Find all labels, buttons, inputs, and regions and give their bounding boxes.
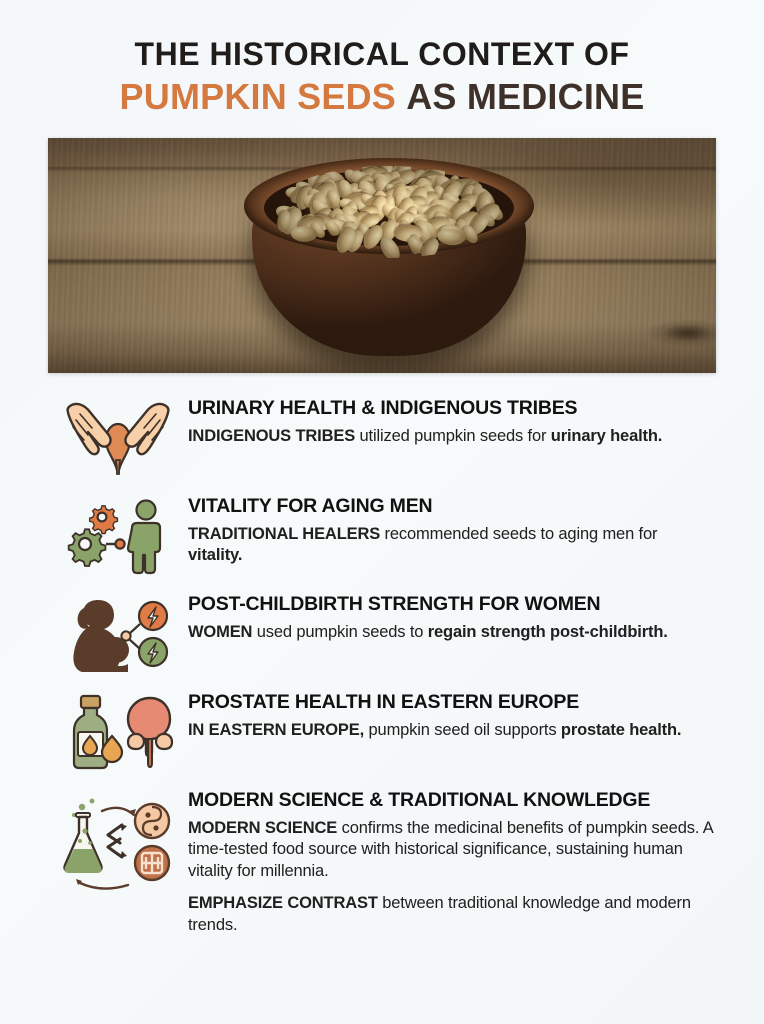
title-line-2: PUMPKIN SEDS AS MEDICINE [44,76,720,118]
list-item-text: POST-CHILDBIRTH STRENGTH FOR WOMEN WOMEN… [188,591,716,643]
list-item: POST-CHILDBIRTH STRENGTH FOR WOMEN WOMEN… [48,591,716,677]
hero-photo-pumpkin-seeds-bowl [48,138,716,373]
flask-and-traditional-symbols-icon [48,787,188,897]
list-item-body-secondary: EMPHASIZE CONTRAST between traditional k… [188,893,716,936]
gears-and-person-icon [48,493,188,579]
list-item-body: INDIGENOUS TRIBES utilized pumpkin seeds… [188,426,716,447]
list-item-title: URINARY HEALTH & INDIGENOUS TRIBES [188,397,716,421]
list-item-text: URINARY HEALTH & INDIGENOUS TRIBES INDIG… [188,395,716,447]
list-item-title: MODERN SCIENCE & TRADITIONAL KNOWLEDGE [188,789,716,813]
list-item: URINARY HEALTH & INDIGENOUS TRIBES INDIG… [48,395,716,481]
list-item-body: TRADITIONAL HEALERS recommended seeds to… [188,524,716,567]
title-suffix-dark: AS MEDICINE [406,76,644,117]
list-item-text: VITALITY FOR AGING MEN TRADITIONAL HEALE… [188,493,716,567]
list-item: MODERN SCIENCE & TRADITIONAL KNOWLEDGE M… [48,787,716,936]
list-item-title: POST-CHILDBIRTH STRENGTH FOR WOMEN [188,593,716,617]
list-item-text: MODERN SCIENCE & TRADITIONAL KNOWLEDGE M… [188,787,716,936]
list-item-text: PROSTATE HEALTH IN EASTERN EUROPE IN EAS… [188,689,716,741]
title-highlight-orange: PUMPKIN SEDS [120,76,396,117]
list-item-title: PROSTATE HEALTH IN EASTERN EUROPE [188,691,716,715]
page-title: THE HISTORICAL CONTEXT OF PUMPKIN SEDS A… [0,0,764,118]
oil-bottle-and-prostate-icon [48,689,188,775]
benefits-list: URINARY HEALTH & INDIGENOUS TRIBES INDIG… [0,395,764,936]
list-item-body: MODERN SCIENCE confirms the medicinal be… [188,818,716,882]
hands-cradling-bladder-icon [48,395,188,481]
list-item-title: VITALITY FOR AGING MEN [188,495,716,519]
title-line-1: THE HISTORICAL CONTEXT OF [44,36,720,74]
list-item: PROSTATE HEALTH IN EASTERN EUROPE IN EAS… [48,689,716,775]
list-item: VITALITY FOR AGING MEN TRADITIONAL HEALE… [48,493,716,579]
list-item-body: IN EASTERN EUROPE, pumpkin seed oil supp… [188,720,716,741]
infographic-page: THE HISTORICAL CONTEXT OF PUMPKIN SEDS A… [0,0,764,1024]
list-item-body: WOMEN used pumpkin seeds to regain stren… [188,622,716,643]
mother-and-baby-energy-icon [48,591,188,677]
